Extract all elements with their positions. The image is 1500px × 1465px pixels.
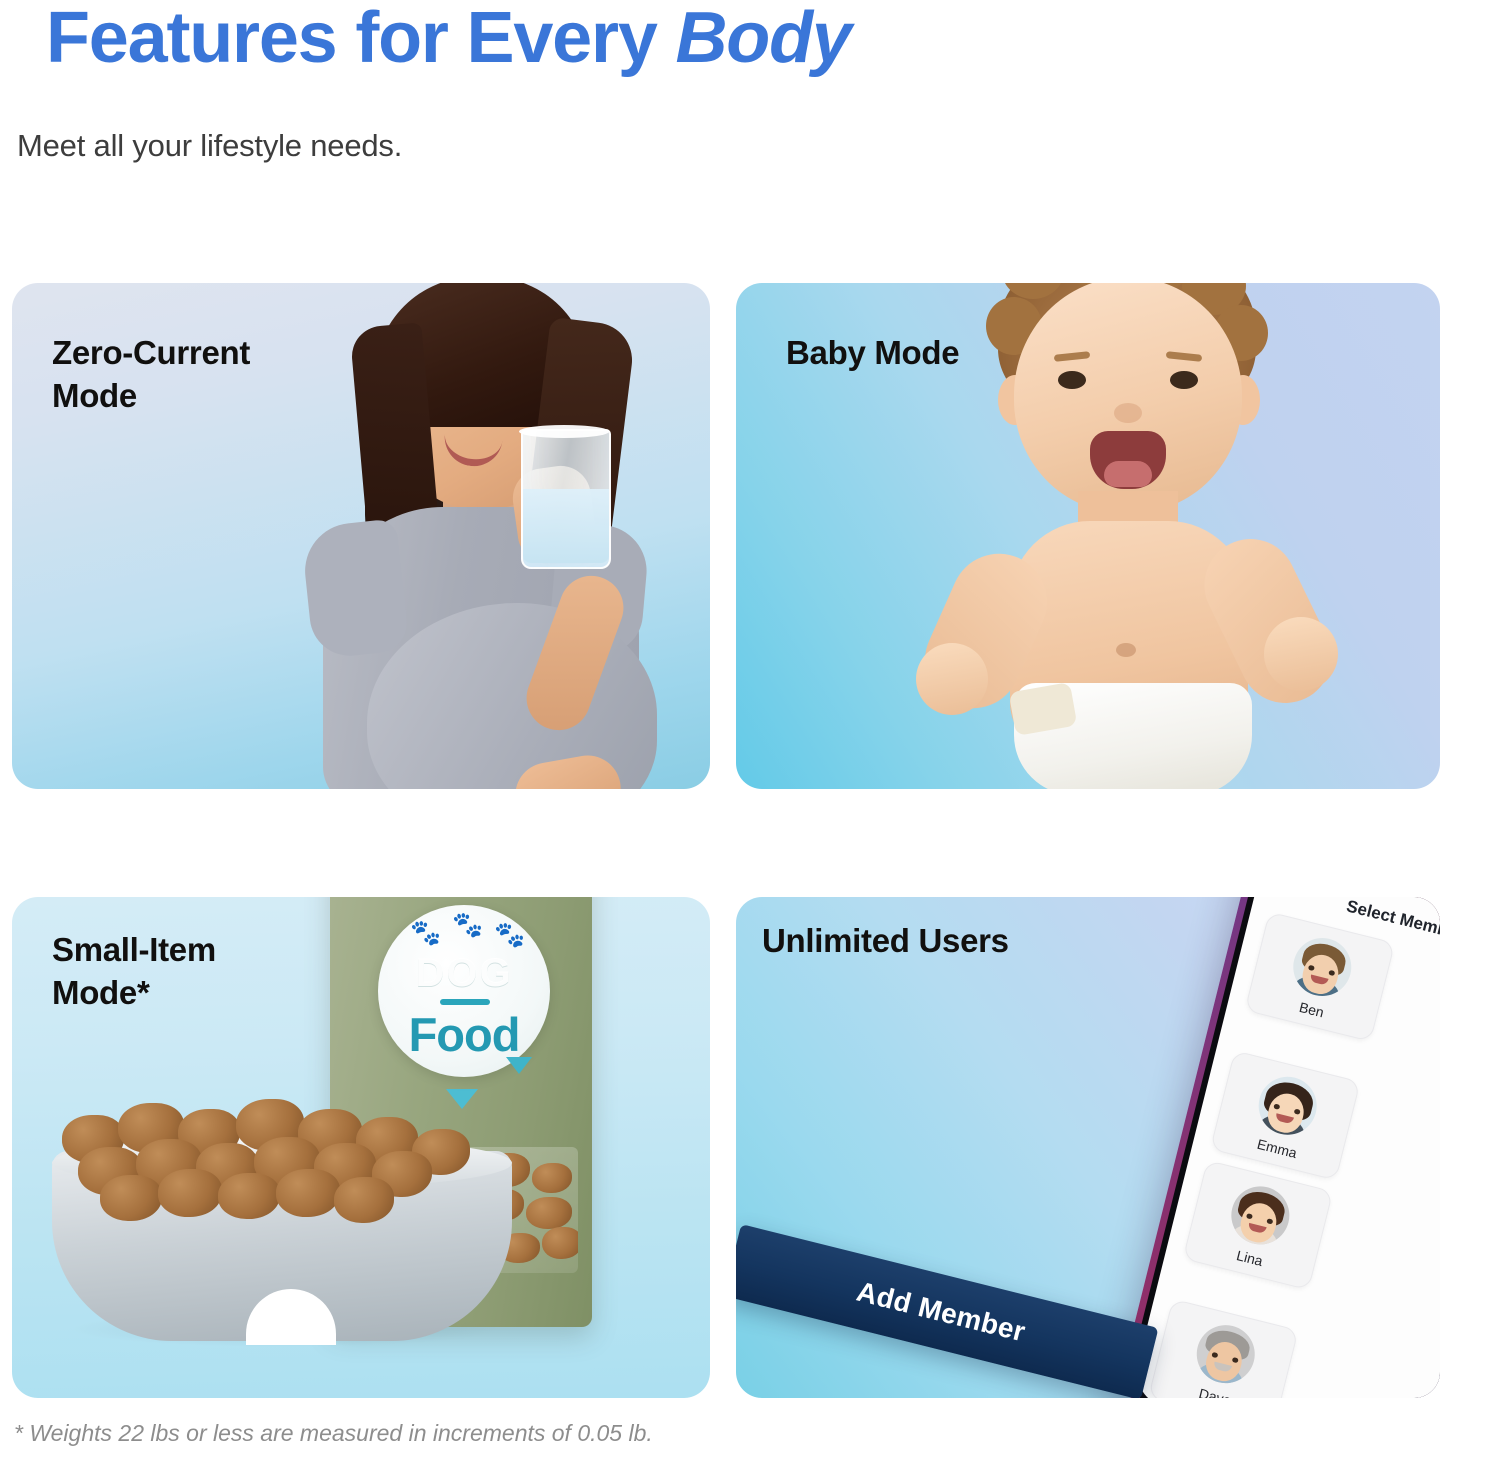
feature-card-zero-current: Zero-Current Mode xyxy=(12,283,710,789)
member-name: Emma xyxy=(1255,1136,1298,1161)
pregnant-woman-illustration xyxy=(247,283,710,789)
feature-card-title: Unlimited Users xyxy=(762,920,1009,963)
member-name: Ben xyxy=(1298,999,1326,1021)
feature-card-small-item-mode: 🐾 🐾 🐾 DOG Food xyxy=(12,897,710,1398)
member-name: Dave xyxy=(1197,1385,1233,1398)
avatar xyxy=(1225,1180,1295,1250)
dog-food-label: 🐾 🐾 🐾 DOG Food xyxy=(378,905,550,1077)
add-member-button[interactable]: Add Member xyxy=(736,1224,1159,1398)
paw-print-icon: 🐾 xyxy=(452,913,483,938)
page-title-text: Features for Every xyxy=(46,0,676,78)
feature-card-title: Zero-Current Mode xyxy=(52,332,250,418)
feature-card-baby-mode: Baby Mode xyxy=(736,283,1440,789)
member-card[interactable]: Emma xyxy=(1210,1050,1361,1180)
member-card[interactable]: Ben xyxy=(1244,911,1395,1041)
phone-screen: Select Member Ben xyxy=(1129,897,1440,1398)
feature-card-unlimited-users: Select Member Ben xyxy=(736,897,1440,1398)
avatar xyxy=(1253,1071,1323,1141)
bag-brand-line1: DOG xyxy=(378,951,550,996)
page-title: Features for Every Body xyxy=(46,0,851,79)
member-card[interactable]: Dave xyxy=(1148,1299,1299,1398)
smartphone: Select Member Ben xyxy=(1113,897,1440,1398)
footnote: * Weights 22 lbs or less are measured in… xyxy=(14,1420,653,1447)
bag-brand-line2: Food xyxy=(378,1007,550,1062)
member-card[interactable]: Lina xyxy=(1183,1160,1334,1290)
page-subtitle: Meet all your lifestyle needs. xyxy=(17,128,402,164)
feature-card-title: Baby Mode xyxy=(786,332,959,375)
avatar xyxy=(1287,932,1357,1002)
paw-print-icon: 🐾 xyxy=(410,921,441,946)
avatar xyxy=(1191,1319,1261,1389)
member-name: Lina xyxy=(1235,1247,1265,1269)
add-member-label: Add Member xyxy=(853,1276,1028,1349)
feature-card-title: Small-Item Mode* xyxy=(52,929,216,1015)
paw-print-icon: 🐾 xyxy=(494,923,525,948)
page-title-emphasis: Body xyxy=(676,0,851,78)
phone-illustration: Select Member Ben xyxy=(856,897,1440,1398)
water-glass-icon xyxy=(521,429,611,569)
